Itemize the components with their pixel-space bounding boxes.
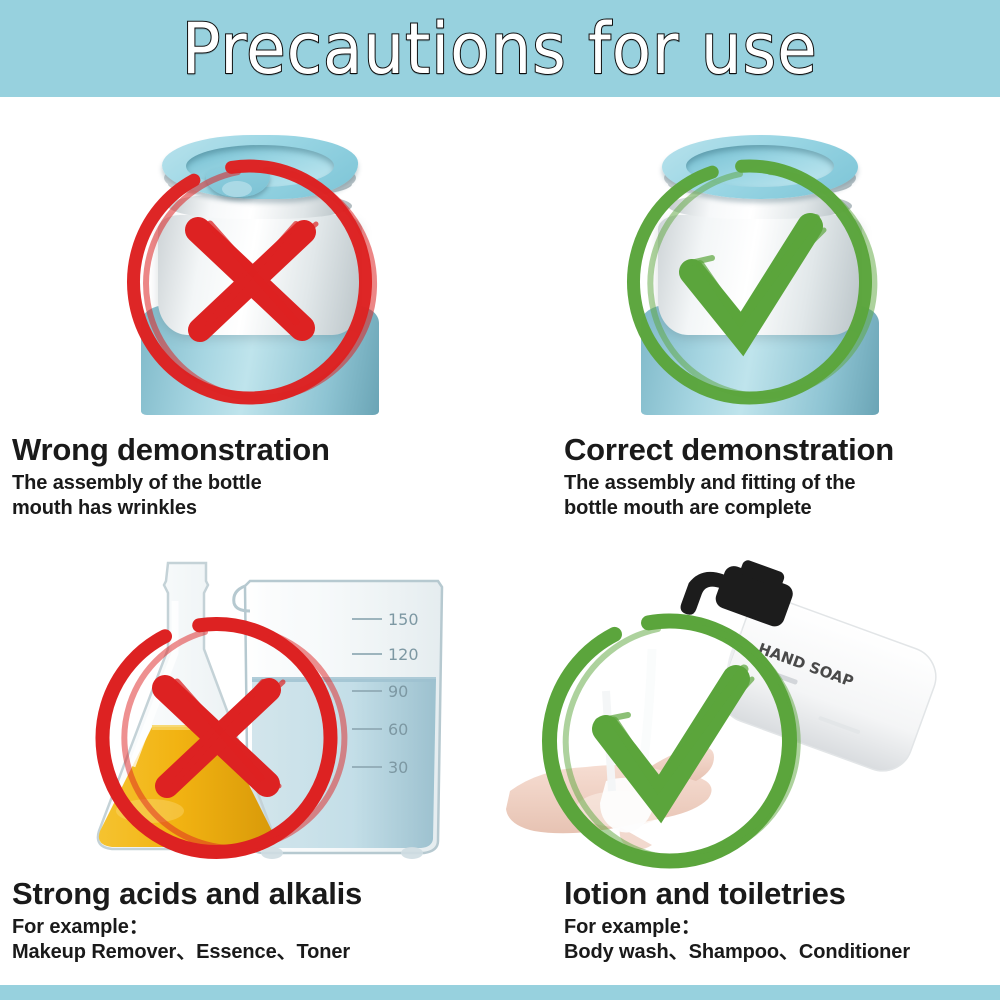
panel-title: lotion and toiletries	[564, 876, 1000, 912]
panel-line-2: Makeup Remover、Essence、Toner	[12, 940, 500, 965]
cross-mark-icon	[120, 152, 380, 412]
panel-correct-bottle-assembly: Correct demonstration The assembly and f…	[500, 97, 1000, 541]
beaker-graduation-150: 150	[388, 610, 419, 629]
beaker-graduation-60: 60	[388, 720, 408, 739]
check-mark-icon	[620, 152, 880, 412]
beaker-graduation-90: 90	[388, 682, 408, 701]
panel-title: Correct demonstration	[564, 432, 1000, 468]
illustration-wrong-bottle	[0, 97, 500, 427]
caption-strong-acids: Strong acids and alkalis For example： Ma…	[0, 876, 500, 965]
panel-line-2: mouth has wrinkles	[12, 496, 500, 521]
panel-line-1: The assembly of the bottle	[12, 471, 500, 496]
illustration-lab-glassware: 150 120 90 60 30	[0, 541, 500, 871]
panel-lotion-and-toiletries: HAND SOAP	[500, 541, 1000, 985]
panel-title: Strong acids and alkalis	[12, 876, 500, 912]
panel-line-1: For example：	[12, 915, 500, 940]
infographic-page: Precautions for use	[0, 0, 1000, 1000]
caption-correct-bottle: Correct demonstration The assembly and f…	[500, 432, 1000, 521]
panel-line-1: For example：	[564, 915, 1000, 940]
beaker-graduation-120: 120	[388, 645, 419, 664]
caption-wrong-bottle: Wrong demonstration The assembly of the …	[0, 432, 500, 521]
panel-title: Wrong demonstration	[12, 432, 500, 468]
footer-band	[0, 985, 1000, 1000]
caption-lotion-toiletries: lotion and toiletries For example： Body …	[500, 876, 1000, 965]
check-mark-icon	[550, 621, 798, 861]
page-header: Precautions for use	[0, 0, 1000, 97]
panel-line-2: bottle mouth are complete	[564, 496, 1000, 521]
panel-strong-acids-and-alkalis: 150 120 90 60 30	[0, 541, 500, 985]
panel-line-2: Body wash、Shampoo、Conditioner	[564, 940, 1000, 965]
panel-grid: Wrong demonstration The assembly of the …	[0, 97, 1000, 985]
panel-line-1: The assembly and fitting of the	[564, 471, 1000, 496]
illustration-hand-soap: HAND SOAP	[500, 541, 1000, 871]
panel-wrong-bottle-assembly: Wrong demonstration The assembly of the …	[0, 97, 500, 541]
beaker-graduation-30: 30	[388, 758, 408, 777]
illustration-correct-bottle	[500, 97, 1000, 427]
page-title: Precautions for use	[182, 14, 818, 84]
